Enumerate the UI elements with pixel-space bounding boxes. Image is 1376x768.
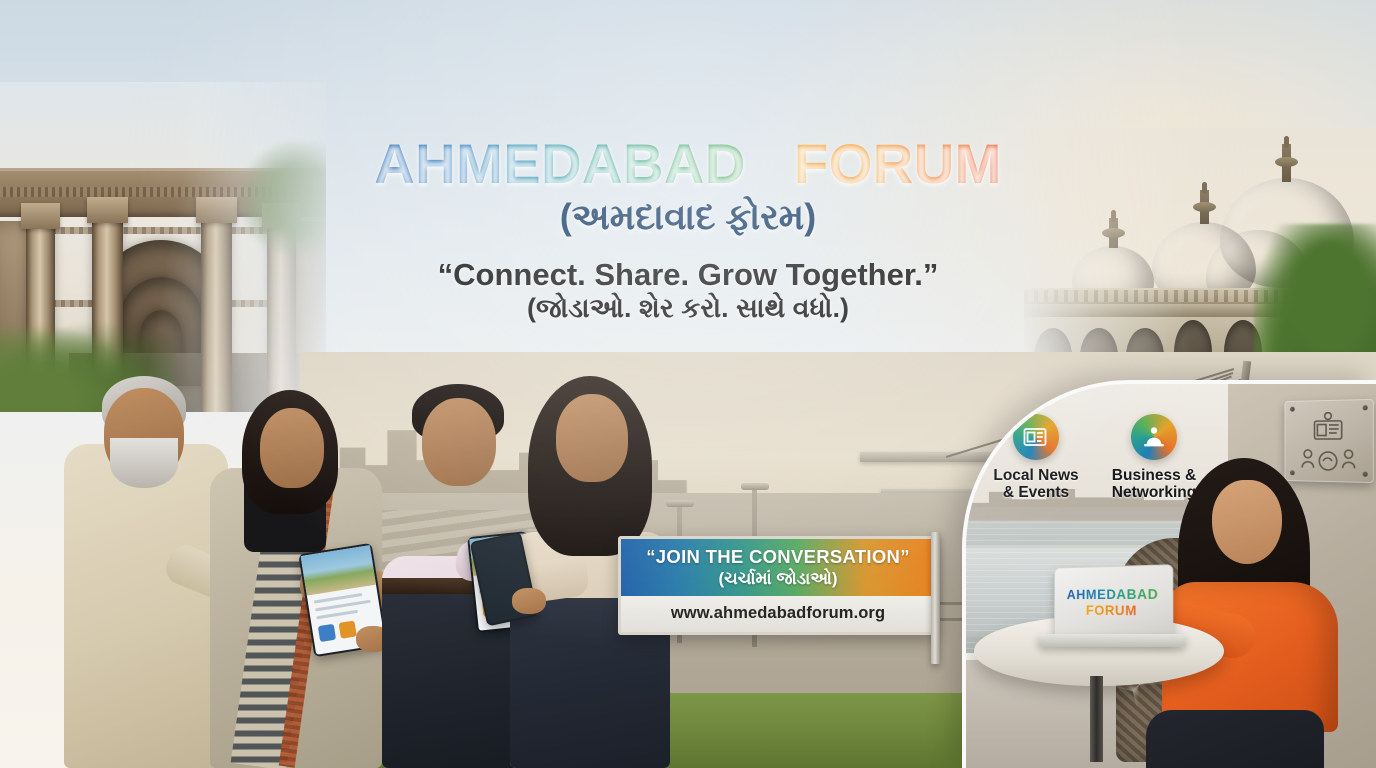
inset-woman-trousers [1146, 710, 1324, 768]
elder-kurta [64, 444, 228, 768]
cafe-table-leg [1090, 676, 1103, 762]
elder-beard [110, 438, 178, 488]
woman-saree-head [260, 408, 324, 488]
feature-label-line2: & Events [988, 484, 1084, 501]
feature-label-line1: Local News [988, 467, 1084, 484]
laptop-lid: AHMEDABAD FORUM [1054, 564, 1173, 639]
laptop-base [1038, 634, 1186, 647]
plaque-newspaper-icon [1309, 412, 1348, 447]
tagline-english: “Connect. Share. Grow Together.” [0, 258, 1376, 292]
title-forum: FORUM [794, 132, 1002, 195]
title-gujarati: (અમદાવાદ ફોરમ) [0, 196, 1376, 237]
tablet-tile [317, 624, 336, 642]
business-networking-icon [1131, 414, 1177, 460]
billboard-post [931, 532, 940, 664]
inset-panel: Local News & Events Business & Networkin… [962, 380, 1376, 768]
laptop[interactable]: AHMEDABAD FORUM [1050, 566, 1172, 638]
woman-beige-head [556, 394, 628, 482]
billboard-headline-gujarati: (ચર્ચામાં જોડાઓ) [629, 569, 927, 589]
laptop-logo-line2: FORUM [1086, 602, 1137, 617]
person-woman-saree [206, 390, 386, 768]
billboard-frame: “JOIN THE CONVERSATION” (ચર્ચામાં જોડાઓ)… [618, 536, 938, 635]
billboard-headline-english: “JOIN THE CONVERSATION” [629, 548, 927, 567]
feature-local-news[interactable]: Local News & Events [988, 414, 1084, 502]
laptop-logo-line1: AHMEDABAD [1067, 586, 1159, 602]
billboard-gradient-band: “JOIN THE CONVERSATION” (ચર્ચામાં જોડાઓ) [621, 539, 935, 596]
people-group [56, 372, 636, 768]
tablet-tile [338, 620, 357, 638]
billboard: “JOIN THE CONVERSATION” (ચર્ચામાં જોડાઓ)… [618, 536, 938, 635]
poster-canvas: “JOIN THE CONVERSATION” (ચર્ચામાં જોડાઓ)… [0, 0, 1376, 768]
man-head [422, 398, 496, 486]
billboard-website-url[interactable]: www.ahmedabadforum.org [621, 596, 935, 632]
inset-woman-face [1212, 480, 1282, 564]
title-ahmedabad: AHMEDABAD [374, 132, 746, 195]
headline-block: AHMEDABAD FORUM (અમદાવાદ ફોરમ) “Connect.… [0, 136, 1376, 325]
newspaper-icon [1013, 414, 1059, 460]
page-title: AHMEDABAD FORUM [0, 136, 1376, 192]
tablet-hero-image [301, 545, 376, 595]
woman-beige-hand [512, 588, 546, 614]
woman-at-laptop [1152, 458, 1358, 768]
tagline-gujarati: (જોડાઓ. શેર કરો. સાથે વધો.) [0, 293, 1376, 324]
